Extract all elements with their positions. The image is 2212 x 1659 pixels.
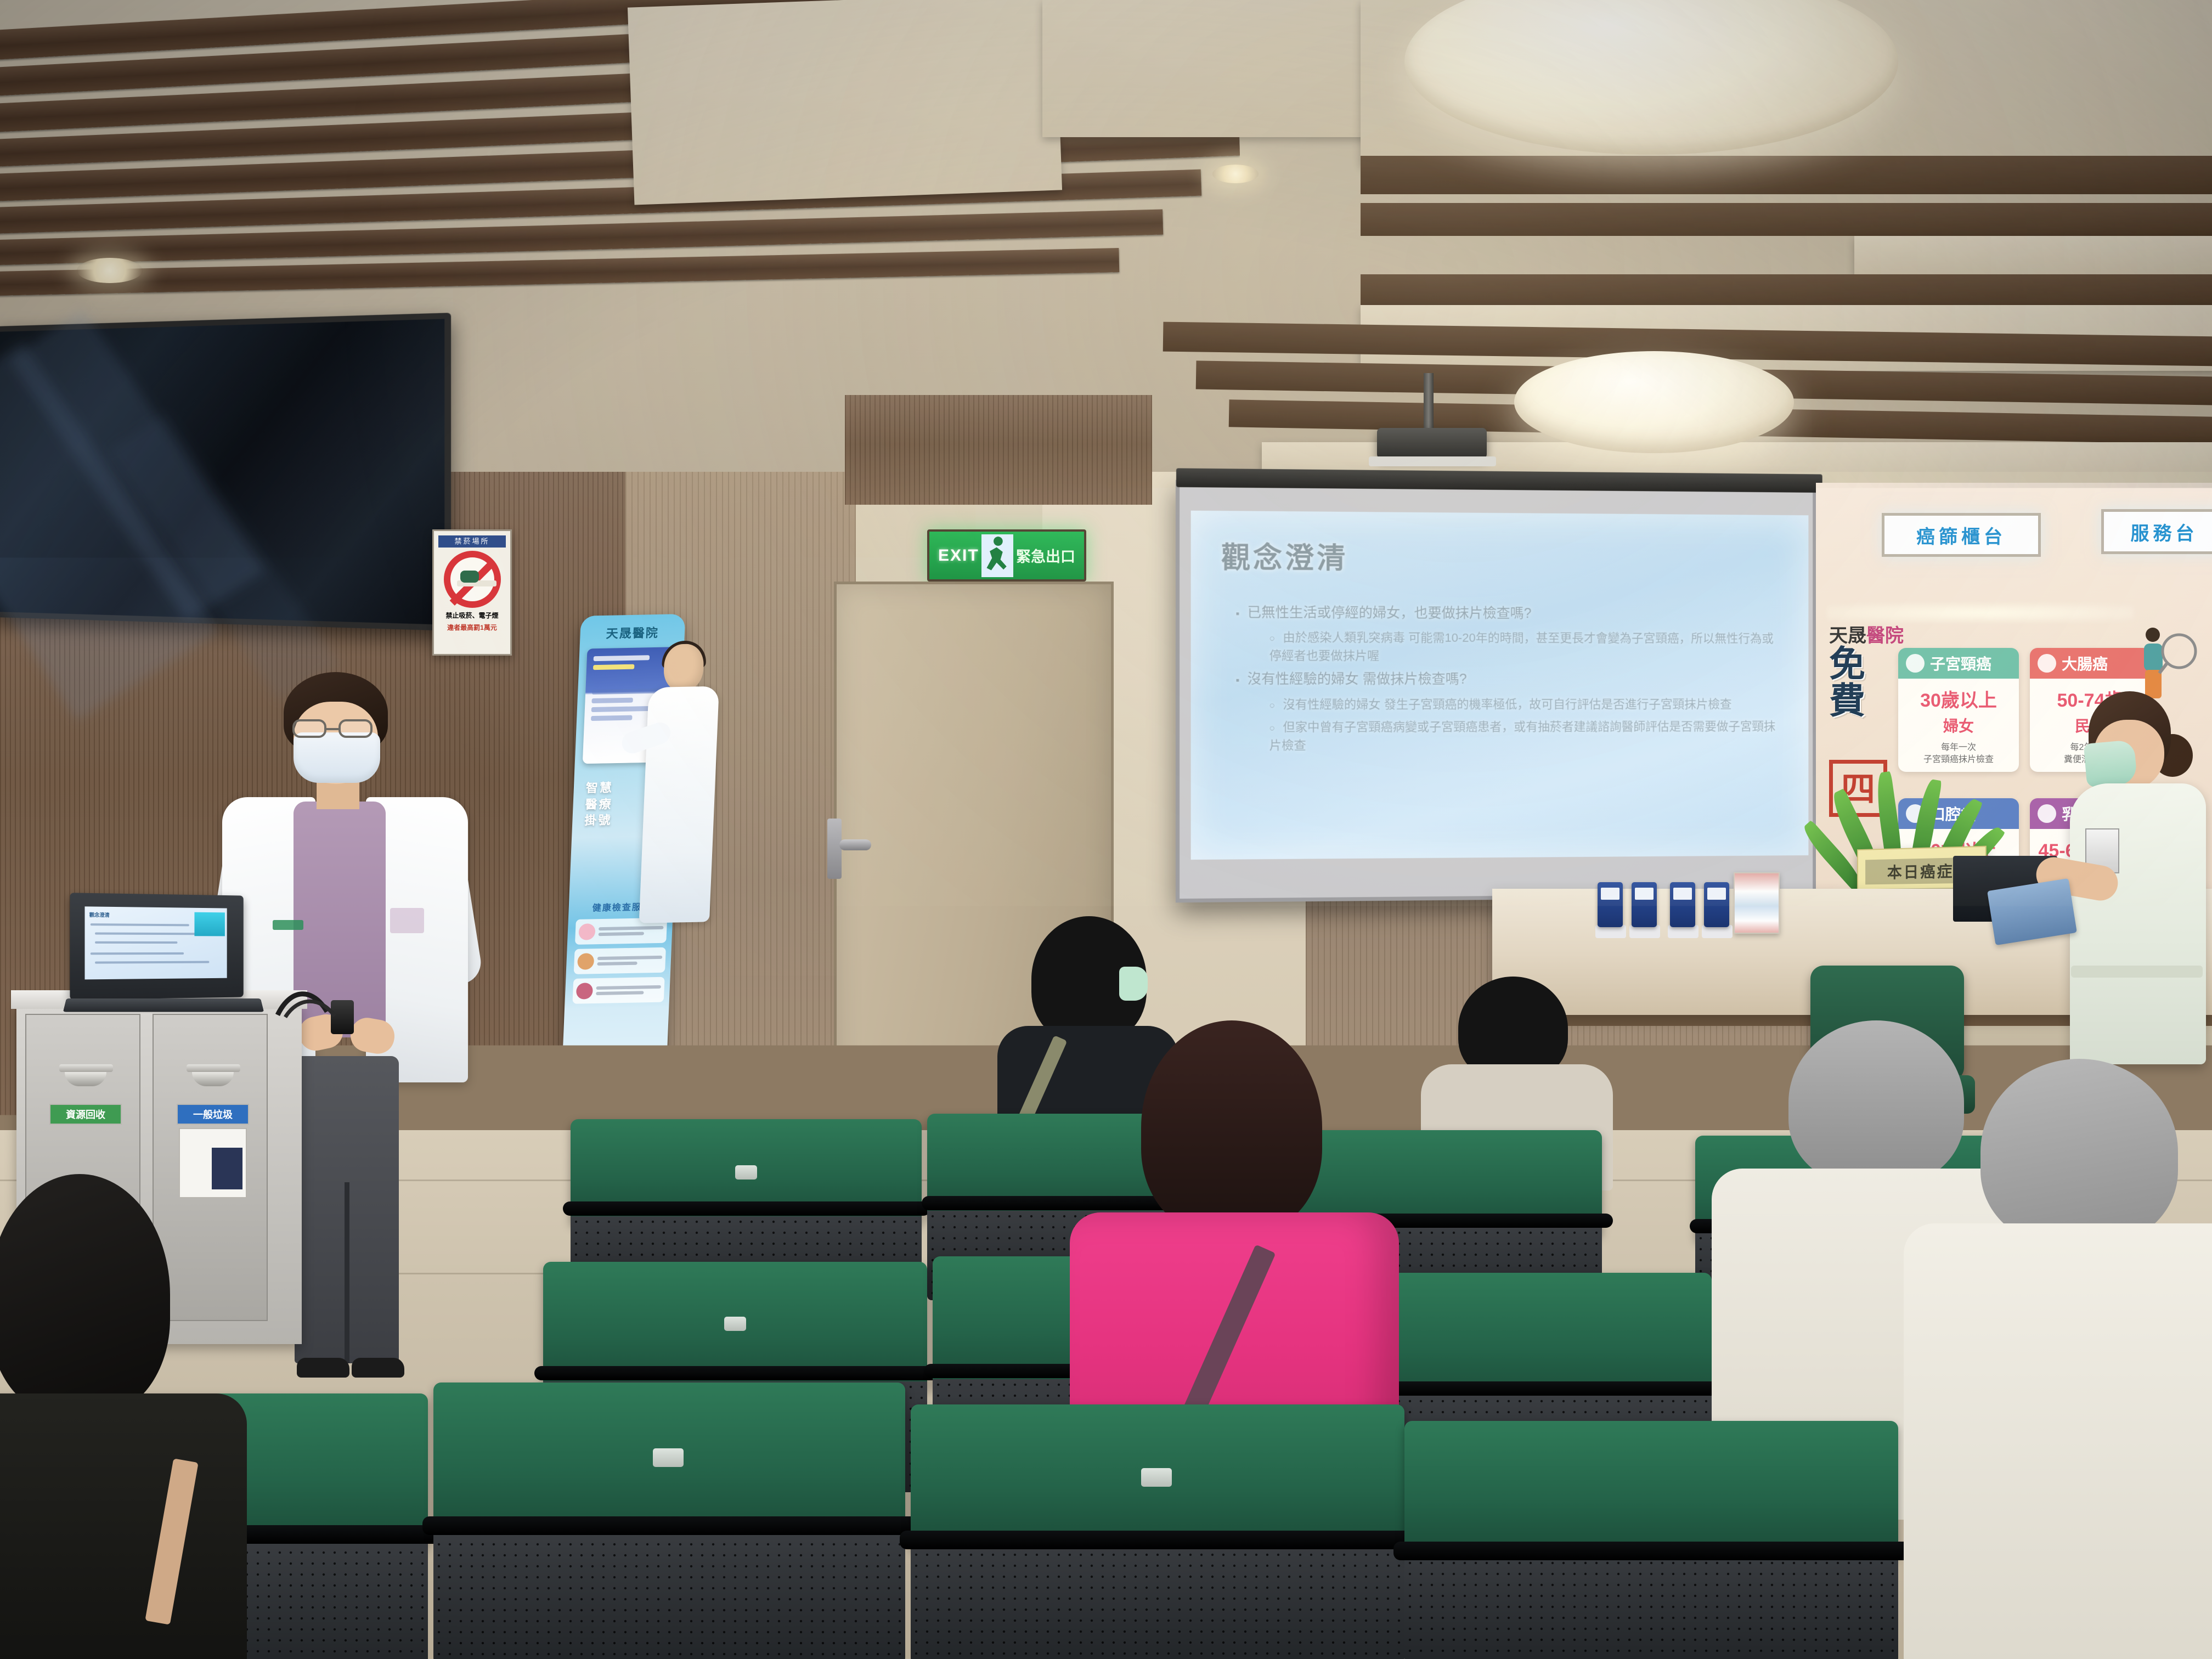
ceiling-projector — [1377, 428, 1487, 459]
standee-logo: 天晟醫院 — [580, 623, 685, 642]
shoe-right — [352, 1358, 404, 1378]
wall-mounted-tv[interactable] — [0, 313, 451, 631]
downlight-2 — [1212, 165, 1259, 183]
hospital-lobby-presentation-scene: 禁菸場所 禁止吸菸、電子煙 違者最高罰1萬元 EXIT 緊急出口 觀念澄清 已無… — [0, 0, 2212, 1659]
ceiling-dome-light-2 — [1514, 351, 1794, 453]
laptop-screen: 觀念澄清 — [84, 906, 227, 979]
bin-label-general-waste: 一般垃圾 — [177, 1104, 249, 1125]
slide-bullet: 但家中曾有子宮頸癌病變或子宮頸癌患者，或有抽菸者建議諮詢醫師評估是否需要做子宮頸… — [1269, 717, 1784, 754]
promotional-standee: 天晟醫院 智慧醫療掛號 健康檢查服務 — [543, 613, 729, 1121]
exit-label-chinese: 緊急出口 — [1016, 545, 1075, 566]
chair[interactable] — [433, 1383, 905, 1659]
coat-pocket — [390, 908, 424, 933]
slide-bullet: 沒有性經驗的婦女 發生子宮頸癌的機率極低，故可自行評估是否進行子宮頸抹片檢查 — [1269, 695, 1784, 713]
door-handle[interactable] — [839, 839, 871, 850]
stomach-icon — [577, 953, 594, 970]
overhead-sign-cancer-screening: 癌篩櫃台 — [1882, 513, 2041, 557]
no-smoking-header: 禁菸場所 — [438, 535, 506, 548]
ceiling-beam-right-2 — [1361, 203, 2212, 236]
heart-icon — [576, 983, 593, 1000]
counter-leaflet-stand[interactable] — [1734, 872, 1780, 934]
laptop-slide-title: 觀念澄清 — [89, 911, 110, 919]
laptop-secondary-panel — [194, 912, 224, 936]
shoe-left — [297, 1358, 349, 1378]
hand-sanitizer-dispenser[interactable] — [1632, 882, 1657, 927]
no-smoking-line2: 違者最高罰1萬元 — [438, 623, 506, 632]
uniform-belt — [2071, 966, 2203, 978]
slide-bullet: 沒有性經驗的婦女 需做抹片檢查嗎? — [1235, 669, 1784, 690]
standee-doctor-figure — [633, 644, 723, 1029]
laptop-keyboard[interactable] — [63, 998, 264, 1012]
emergency-exit-sign: EXIT 緊急出口 — [927, 529, 1086, 582]
poster-card: 子宮頸癌 30歲以上 婦女 每年一次 子宮頸癌抹片檢查 — [1898, 648, 2019, 772]
bin-handle[interactable] — [187, 1064, 240, 1072]
slide-bullet: 已無性生活或停經的婦女，也要做抹片檢查嗎? — [1235, 602, 1784, 624]
no-smoking-line1: 禁止吸菸、電子煙 — [438, 611, 506, 620]
cable-bundle — [274, 982, 340, 1020]
uterus-icon — [1906, 654, 1925, 673]
presenter-laptop[interactable]: 觀念澄清 — [71, 894, 263, 1020]
ceiling-beam-right-3 — [1361, 274, 2212, 309]
nurse-uniform — [2070, 783, 2206, 1064]
slide-title: 觀念澄清 — [1221, 534, 1784, 579]
slide-bullet: 由於感染人類乳突病毒 可能需10-20年的時間，甚至更長才會變為子宮頸癌，所以無… — [1269, 628, 1784, 665]
presentation-slide: 觀念澄清 已無性生活或停經的婦女，也要做抹片檢查嗎? 由於感染人類乳突病毒 可能… — [1191, 511, 1809, 860]
downlight-1 — [77, 258, 143, 283]
face-mask-icon — [294, 732, 380, 783]
chair[interactable] — [911, 1404, 1404, 1659]
eyeglasses-icon — [292, 719, 380, 739]
projection-screen: 觀念澄清 已無性生活或停經的婦女，也要做抹片檢查嗎? 由於感染人類乳突病毒 可能… — [1176, 480, 1816, 903]
breast-icon — [2038, 804, 2056, 823]
hand-sanitizer-dispenser[interactable] — [1670, 882, 1695, 927]
audience-member-foreground-left — [0, 1174, 263, 1659]
bin-handle[interactable] — [59, 1064, 113, 1072]
hand-sanitizer-dispenser[interactable] — [1704, 882, 1729, 927]
chair[interactable] — [1404, 1421, 1898, 1659]
no-smoking-icon — [444, 551, 501, 608]
wall-header-beam — [845, 395, 1152, 505]
projector-mount-pole — [1424, 373, 1434, 433]
ceiling-soffit-left — [628, 0, 1062, 205]
door-plate — [827, 819, 842, 879]
bin-label-recycling: 資源回收 — [49, 1104, 122, 1125]
hand-sanitizer-dispenser[interactable] — [1598, 882, 1623, 927]
ceiling-beam-right — [1361, 156, 2212, 194]
running-person-icon — [981, 534, 1013, 577]
projector-mount-plate — [1369, 456, 1496, 466]
ceiling-soffit-far-right — [1854, 236, 2212, 274]
exit-label-english: EXIT — [938, 546, 979, 565]
face-mask-icon — [2084, 740, 2138, 788]
poster-headline: 免費 — [1829, 646, 1889, 720]
colon-icon — [2038, 654, 2056, 673]
overhead-sign-service-desk: 服務台 — [2101, 509, 2212, 554]
uterus-icon — [578, 923, 595, 940]
coat-logo — [273, 920, 303, 930]
nurse-staff — [2055, 691, 2212, 1064]
audience-member-foreground-right — [1909, 1059, 2212, 1659]
no-smoking-sign: 禁菸場所 禁止吸菸、電子煙 違者最高罰1萬元 — [432, 529, 512, 656]
